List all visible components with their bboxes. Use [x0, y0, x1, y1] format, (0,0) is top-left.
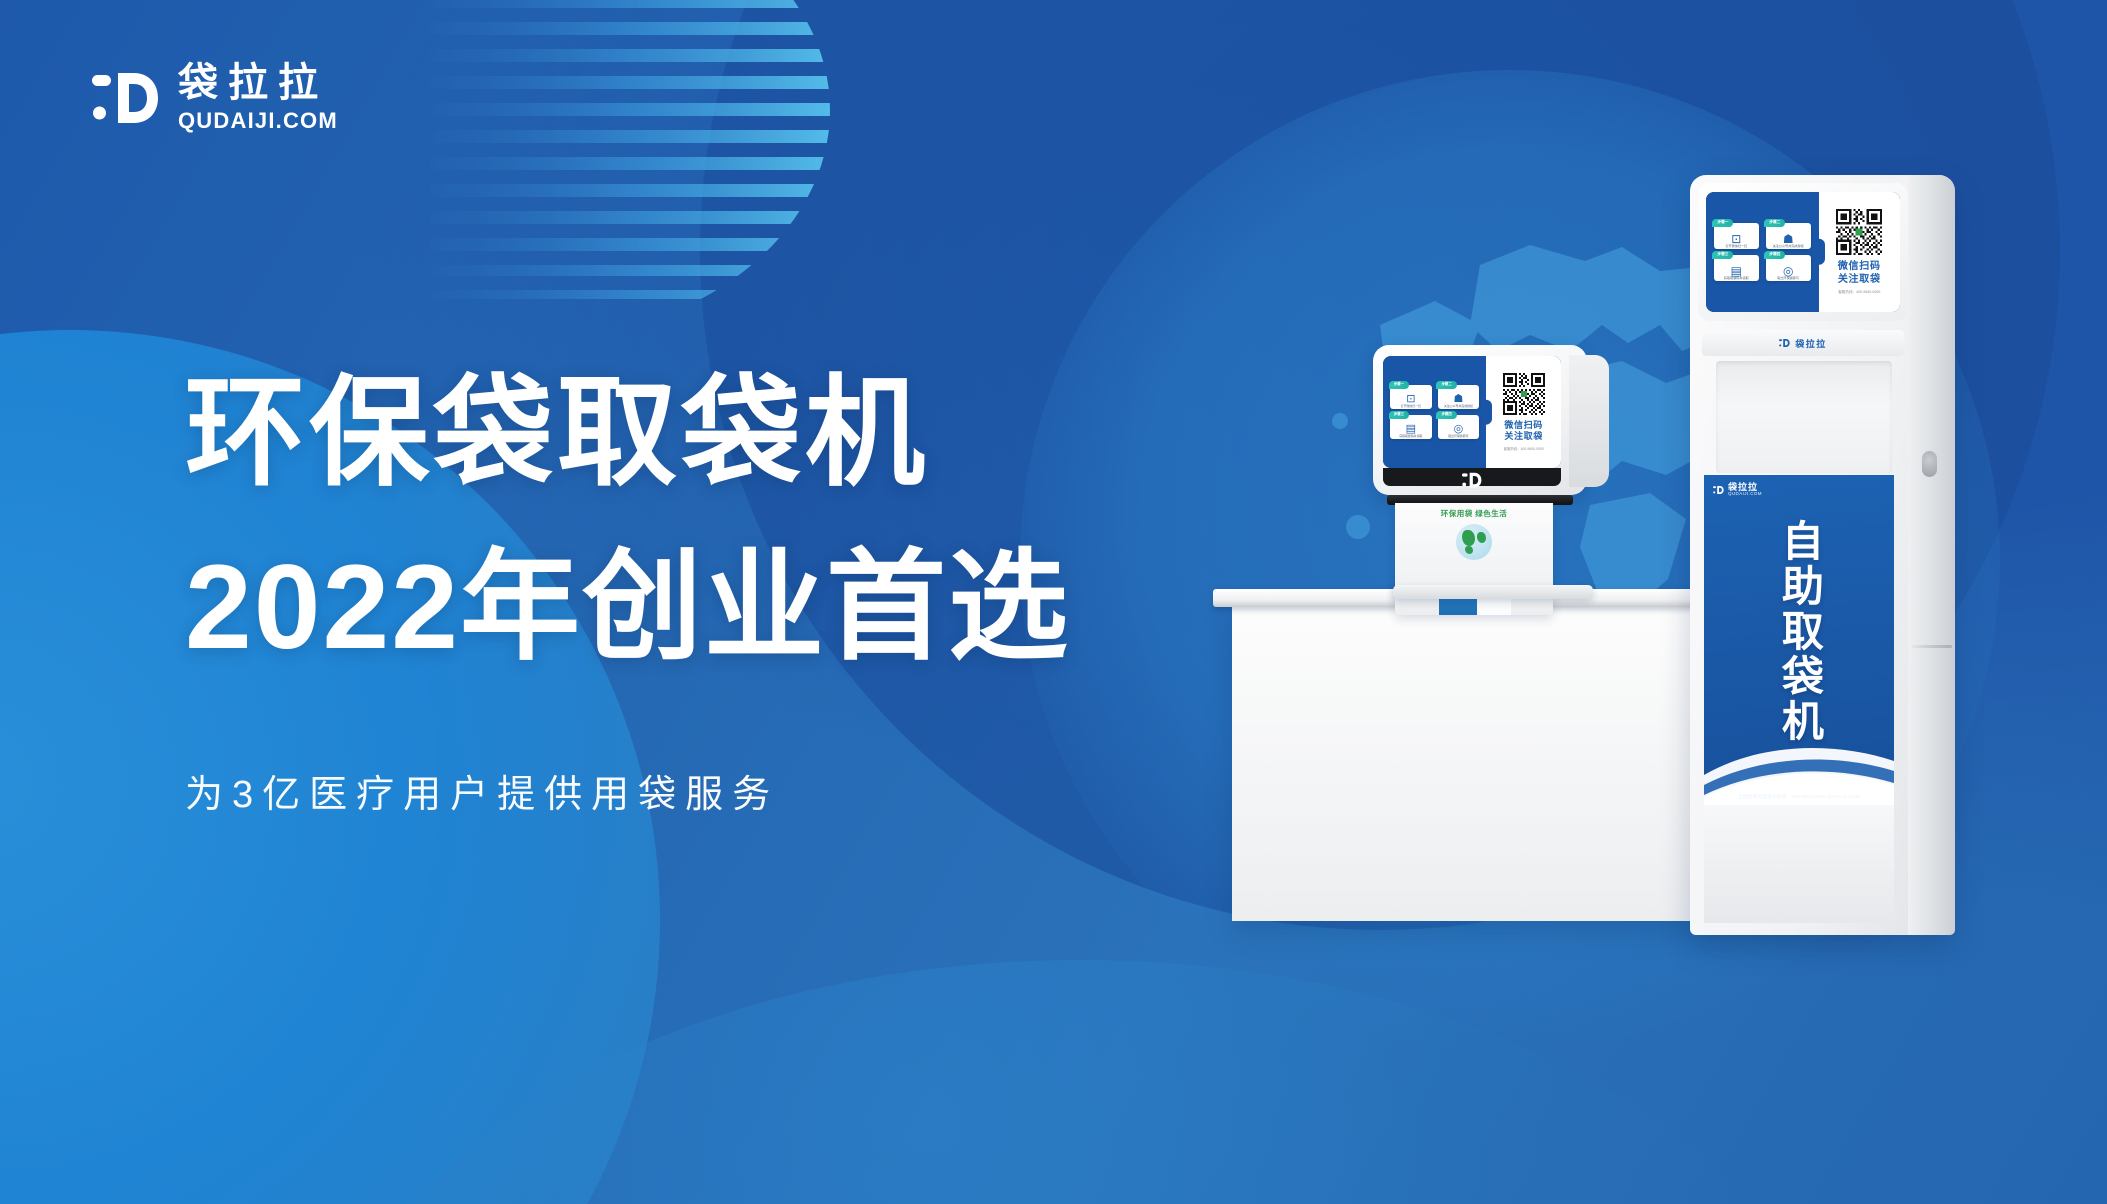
step-tag: 步骤三: [1712, 251, 1733, 259]
wechat-qr-code: [1836, 209, 1882, 255]
colon-d-logo-icon: [1713, 485, 1724, 495]
dispenser-side-panel: [1569, 355, 1609, 487]
kiosk-base: [1704, 805, 1894, 923]
qr-title-line-1: 微信扫码: [1838, 260, 1881, 273]
kiosk-bag-throat: [1716, 361, 1892, 473]
eco-slogan: 环保用袋 绿色生活: [1441, 508, 1508, 519]
dispenser-chin: [1383, 468, 1561, 486]
floor-standing-kiosk: 步骤一 ⊡ 打开微信扫一扫 步骤二 ☗ 关注公众号并完成授权 步骤三 ▤ 获取取…: [1690, 175, 1955, 935]
kiosk-poster: 袋拉拉 QUDAIJI.COM 自助取袋机 全国招商加盟服务热线：400-965…: [1704, 475, 1894, 805]
kiosk-brand-bar: 袋拉拉: [1702, 330, 1904, 356]
step-card: 步骤二 ☗ 关注公众号并完成授权: [1438, 385, 1479, 409]
wechat-qr-code: [1503, 373, 1545, 415]
step-text: 打开微信扫一扫: [1399, 405, 1423, 409]
subheadline: 为3亿医疗用户提供用袋服务: [185, 763, 1235, 818]
step-card: 步骤三 ▤ 获取取袋码并领取: [1390, 415, 1431, 439]
step-tag: 步骤二: [1764, 219, 1785, 227]
step-tag: 步骤三: [1389, 411, 1409, 418]
step-text: 关注公众号并完成授权: [1442, 405, 1474, 409]
step-tag: 步骤一: [1389, 381, 1409, 388]
step-tag: 步骤四: [1436, 411, 1456, 418]
step-text: 关注公众号并完成授权: [1771, 245, 1806, 249]
step-text: 取出环保袋即可: [1776, 277, 1801, 281]
kiosk-display[interactable]: 步骤一 ⊡ 打开微信扫一扫 步骤二 ☗ 关注公众号并完成授权 步骤三 ▤ 获取取…: [1706, 192, 1900, 312]
step-tag: 步骤一: [1712, 219, 1733, 227]
qr-hotline-note: 客服热线：400-9650-0059: [1504, 447, 1544, 451]
kiosk-side-column: [1908, 175, 1955, 935]
step-text: 取出环保袋即可: [1447, 435, 1471, 439]
headline-line-1: 环保袋取袋机: [185, 355, 1235, 511]
step-card: 步骤二 ☗ 关注公众号并完成授权: [1766, 223, 1811, 249]
colon-d-logo-icon: [92, 67, 160, 129]
striped-globe-motif: [430, 0, 850, 340]
counter-top-bag-dispenser: 步骤一 ⊡ 打开微信扫一扫 步骤二 ☗ 关注公众号并完成授权 步骤三 ▤ 获取取…: [1373, 345, 1613, 605]
brand-name-cn: 袋拉拉: [178, 62, 338, 104]
step-card: 步骤一 ⊡ 打开微信扫一扫: [1390, 385, 1431, 409]
kiosk-side-port-icon: [1922, 451, 1937, 477]
poster-footer-text: 全国招商加盟服务热线：400-9650-0059 QUDAIJI.COM: [1704, 794, 1894, 800]
qr-title: 微信扫码 关注取袋: [1504, 420, 1542, 443]
dispenser-display[interactable]: 步骤一 ⊡ 打开微信扫一扫 步骤二 ☗ 关注公众号并完成授权 步骤三 ▤ 获取取…: [1383, 356, 1561, 468]
screen-qr-panel: 微信扫码 关注取袋 客服热线：400-9650-0059: [1486, 356, 1561, 468]
step-tag: 步骤二: [1436, 381, 1456, 388]
step-card: 步骤四 ◎ 取出环保袋即可: [1766, 255, 1811, 281]
screen-ui: 步骤一 ⊡ 打开微信扫一扫 步骤二 ☗ 关注公众号并完成授权 步骤三 ▤ 获取取…: [1706, 192, 1900, 312]
step-card: 步骤三 ▤ 获取取袋码并领取: [1714, 255, 1759, 281]
green-earth-icon: [1456, 524, 1492, 560]
poster-brand-lockup: 袋拉拉 QUDAIJI.COM: [1713, 483, 1762, 497]
step-card: 步骤一 ⊡ 打开微信扫一扫: [1714, 223, 1759, 249]
panel-notch: [1818, 239, 1825, 265]
brand-wordmark: 袋拉拉 QUDAIJI.COM: [178, 62, 338, 134]
qr-hotline-note: 客服热线：400-9650-0059: [1838, 290, 1880, 294]
screen-steps-panel: 步骤一 ⊡ 打开微信扫一扫 步骤二 ☗ 关注公众号并完成授权 步骤三 ▤ 获取取…: [1706, 192, 1819, 312]
screen-qr-panel: 微信扫码 关注取袋 客服热线：400-9650-0059: [1819, 192, 1900, 312]
headline-line-2: 2022年创业首选: [185, 529, 1235, 685]
step-text: 打开微信扫一扫: [1724, 245, 1749, 249]
marketing-banner: 袋拉拉 QUDAIJI.COM 环保袋取袋机 2022年创业首选 为3亿医疗用户…: [0, 0, 2107, 1204]
hero-copy: 环保袋取袋机 2022年创业首选 为3亿医疗用户提供用袋服务: [185, 355, 1235, 818]
qr-title-line-2: 关注取袋: [1504, 431, 1542, 443]
step-text: 获取取袋码并领取: [1398, 435, 1424, 439]
brand-logo[interactable]: 袋拉拉 QUDAIJI.COM: [92, 62, 338, 134]
screen-steps-panel: 步骤一 ⊡ 打开微信扫一扫 步骤二 ☗ 关注公众号并完成授权 步骤三 ▤ 获取取…: [1383, 356, 1486, 468]
step-text: 获取取袋码并领取: [1722, 277, 1750, 281]
poster-vertical-title-wrap: 自助取袋机: [1704, 519, 1894, 744]
panel-notch: [1485, 400, 1492, 425]
kiosk-brand-name: 袋拉拉: [1795, 337, 1827, 350]
qr-title-line-1: 微信扫码: [1504, 420, 1542, 432]
qr-title: 微信扫码 关注取袋: [1838, 260, 1881, 286]
dispenser-base-plate: [1393, 585, 1593, 599]
colon-d-logo-icon: [1462, 471, 1482, 483]
poster-brand-domain: QUDAIJI.COM: [1728, 492, 1762, 497]
colon-d-logo-icon: [1779, 338, 1790, 348]
kiosk-brand-lockup: 袋拉拉: [1779, 337, 1827, 350]
step-card: 步骤四 ◎ 取出环保袋即可: [1438, 415, 1479, 439]
brand-domain: QUDAIJI.COM: [178, 108, 338, 134]
kiosk-panel-seam: [1912, 645, 1952, 648]
screen-ui: 步骤一 ⊡ 打开微信扫一扫 步骤二 ☗ 关注公众号并完成授权 步骤三 ▤ 获取取…: [1383, 356, 1561, 468]
poster-vertical-title: 自助取袋机: [1778, 519, 1821, 744]
qr-title-line-2: 关注取袋: [1838, 273, 1881, 286]
step-tag: 步骤四: [1764, 251, 1785, 259]
